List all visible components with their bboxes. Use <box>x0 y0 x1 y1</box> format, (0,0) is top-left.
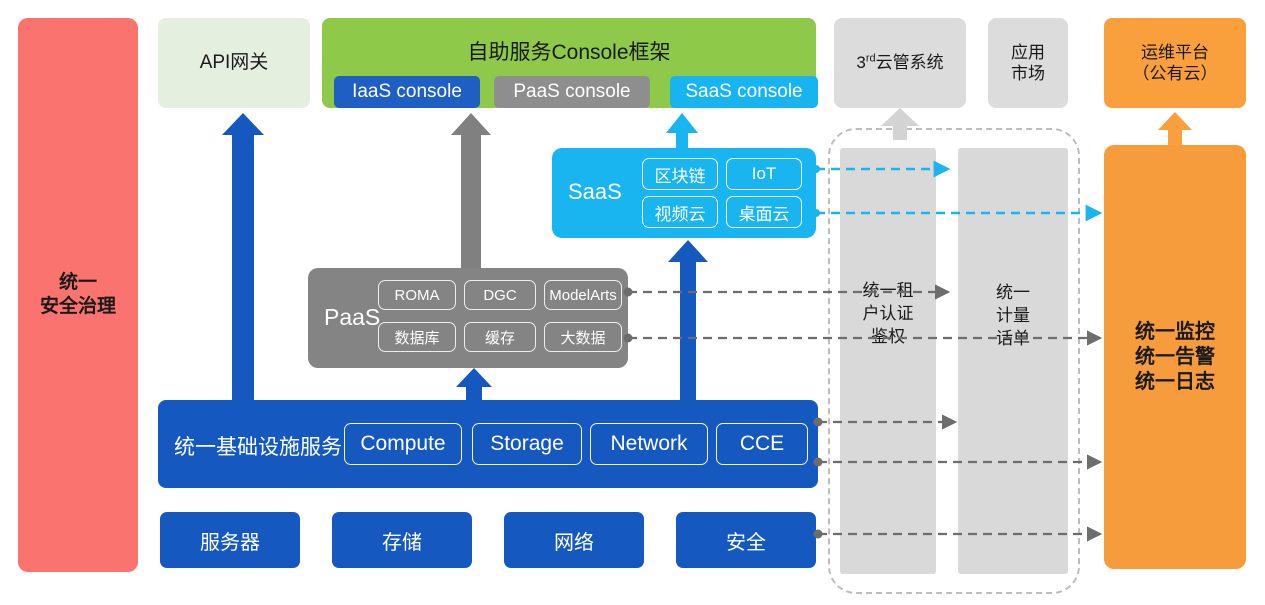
paas-tile-roma[interactable]: ROMA <box>378 280 456 310</box>
infrastructure-label: 统一基础设施服务 <box>174 431 342 461</box>
paas-block-label: PaaS <box>324 304 380 331</box>
infra-tile-cce[interactable]: CCE <box>716 423 808 465</box>
unified-metering-column <box>958 148 1068 574</box>
unified-infrastructure-bar: 统一基础设施服务 Compute Storage Network CCE <box>158 400 818 488</box>
unified-tenant-auth-label: 统一租 户认证 鉴权 <box>840 280 936 349</box>
api-gateway-box: API网关 <box>158 18 310 108</box>
saas-tile-video-cloud[interactable]: 视频云 <box>642 196 718 228</box>
iaas-console-chip[interactable]: IaaS console <box>334 76 480 108</box>
infra-tile-compute[interactable]: Compute <box>344 423 462 465</box>
saas-console-chip[interactable]: SaaS console <box>670 76 818 108</box>
saas-tile-iot[interactable]: IoT <box>726 158 802 190</box>
paas-tile-cache[interactable]: 缓存 <box>464 322 536 352</box>
saas-block: SaaS 区块链 IoT 视频云 桌面云 <box>552 148 816 238</box>
unified-security-governance-panel: 统一 安全治理 <box>18 18 138 572</box>
arrow-infra-to-saas <box>668 240 708 400</box>
arrow-infra-to-api-gateway <box>222 113 264 400</box>
paas-tile-modelarts[interactable]: ModelArts <box>544 280 622 310</box>
hardware-box-server[interactable]: 服务器 <box>160 512 300 568</box>
hardware-box-security[interactable]: 安全 <box>676 512 816 568</box>
paas-tile-database[interactable]: 数据库 <box>378 322 456 352</box>
architecture-diagram: 统一 安全治理 API网关 自助服务Console框架 IaaS console… <box>0 0 1265 605</box>
third-party-label: 3rd云管系统 <box>856 52 943 73</box>
saas-tile-blockchain[interactable]: 区块链 <box>642 158 718 190</box>
unified-monitoring-panel: 统一监控 统一告警 统一日志 <box>1104 145 1246 569</box>
arrow-ops-panel-to-ops-platform <box>1158 112 1192 145</box>
console-framework-title: 自助服务Console框架 <box>322 40 816 66</box>
ops-platform-public-cloud-box: 运维平台 （公有云） <box>1104 18 1246 108</box>
hardware-box-storage[interactable]: 存储 <box>332 512 472 568</box>
arrow-infra-to-paas <box>456 368 492 400</box>
arrow-paas-to-console <box>451 113 491 268</box>
paas-tile-dgc[interactable]: DGC <box>464 280 536 310</box>
console-framework-box: 自助服务Console框架 IaaS console PaaS console … <box>322 18 816 108</box>
third-party-cloud-mgmt-box: 3rd云管系统 <box>834 18 966 108</box>
infra-tile-network[interactable]: Network <box>590 423 708 465</box>
app-market-box: 应用 市场 <box>988 18 1068 108</box>
unified-tenant-auth-column <box>840 148 936 574</box>
paas-block: PaaS ROMA DGC ModelArts 数据库 缓存 大数据 <box>308 268 628 368</box>
arrow-saas-to-saas-console <box>666 113 698 148</box>
hardware-box-network[interactable]: 网络 <box>504 512 644 568</box>
paas-tile-bigdata[interactable]: 大数据 <box>544 322 622 352</box>
saas-tile-desktop-cloud[interactable]: 桌面云 <box>726 196 802 228</box>
paas-console-chip[interactable]: PaaS console <box>494 76 650 108</box>
infra-tile-storage[interactable]: Storage <box>472 423 582 465</box>
unified-metering-label: 统一 计量 话单 <box>958 282 1068 351</box>
saas-block-label: SaaS <box>568 179 622 205</box>
